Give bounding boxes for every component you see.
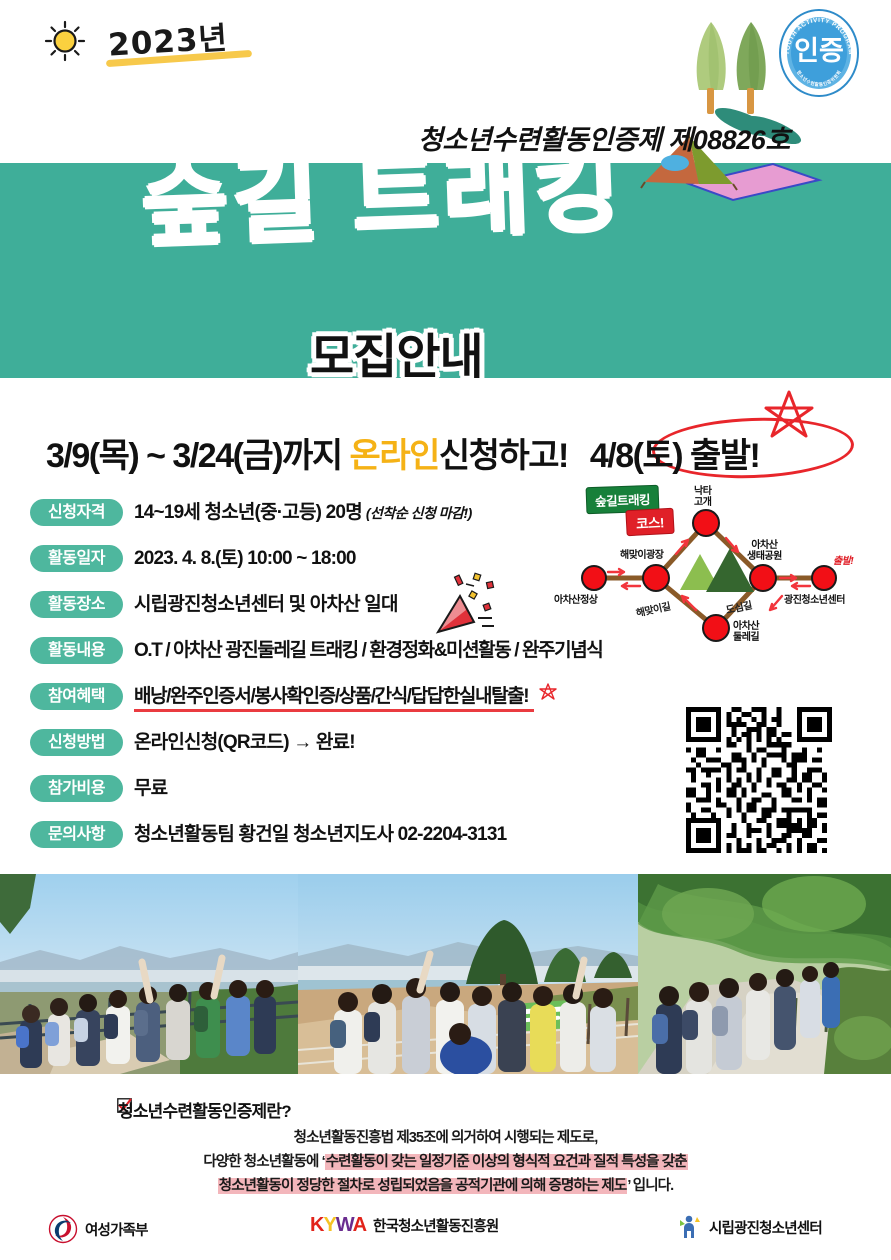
photo-strip xyxy=(0,874,891,1074)
photo-youths-at-viewpoint xyxy=(0,874,298,1074)
year-label: 2023년 xyxy=(107,12,229,64)
gwangjin-center-logo-text: 시립광진청소년센터 xyxy=(709,1217,822,1238)
photo-group-with-banner xyxy=(298,874,638,1074)
info-value-benefits: 배낭/완주인증서/봉사확인증/상품/간식/답답한실내탈출! xyxy=(134,681,528,712)
sponsor-logo-row: 여성가족부 KYWA 한국청소년활동진흥원 시립광진청소년센터 xyxy=(0,1206,891,1254)
footer-line-3-highlight: 청소년활동이 정당한 절차로 성립되었음을 공적기관에 의해 증명하는 제도 xyxy=(218,1178,628,1194)
qualification-text: 14~19세 청소년(중·고등) 20명 xyxy=(134,502,362,523)
footer-line-1: 청소년활동진흥법 제35조에 의거하여 시행되는 제도로, xyxy=(0,1126,891,1150)
benefits-underline-decoration xyxy=(134,709,534,712)
map-node-label-nakta-gogae: 낙타고개 xyxy=(694,486,711,508)
info-value-fee: 무료 xyxy=(134,773,167,804)
map-node-label-achasan-summit: 아차산정상 xyxy=(554,595,598,606)
map-node-label-achasan-eco-park: 아차산생태공원 xyxy=(747,540,782,562)
camping-tent-and-trees-illustration xyxy=(633,4,863,209)
online-keyword: 온라인 xyxy=(350,437,439,475)
info-label-how-to-apply: 신청방법 xyxy=(30,729,123,756)
footer-section-title: 청소년수련활동인증제란? xyxy=(118,1097,291,1122)
map-node-label-achasan-dulle-gil: 아차산둘레길 xyxy=(733,621,759,643)
star-annotation-icon xyxy=(760,388,818,442)
footer-explanation-text: 청소년활동진흥법 제35조에 의거하여 시행되는 제도로, 다양한 청소년활동에… xyxy=(0,1126,891,1198)
photo-hiking-forest-trail xyxy=(638,874,891,1074)
poster-root: 2023년 YOUTH ACTIVITY PROGRAM 청소년수련활동인증위원… xyxy=(0,0,891,1260)
info-value-contact: 청소년활동팀 황건일 청소년지도사 02-2204-3131 xyxy=(134,819,506,850)
footer-line-3: 청소년활동이 정당한 절차로 성립되었음을 공적기관에 의해 증명하는 제도’ … xyxy=(0,1174,891,1198)
map-start-label: 출발! xyxy=(833,556,853,567)
kywa-logo-text: 한국청소년활동진흥원 xyxy=(373,1215,498,1236)
mogef-logo: 여성가족부 xyxy=(48,1214,148,1244)
small-star-icon xyxy=(538,682,558,702)
info-value-location: 시립광진청소년센터 및 아차산 일대 xyxy=(134,589,398,620)
info-label-location: 활동장소 xyxy=(30,591,123,618)
info-label-fee: 참가비용 xyxy=(30,775,123,802)
info-label-program: 활동내용 xyxy=(30,637,123,664)
recruitment-subtitle: 모집안내 xyxy=(310,317,483,387)
info-value-program: O.T / 아차산 광진둘레길 트래킹 / 환경정화&미션활동 / 완주기념식 xyxy=(134,635,602,666)
mogef-logo-text: 여성가족부 xyxy=(85,1219,148,1240)
period-text: 3/9(목) ~ 3/24(금)까지 xyxy=(46,437,350,475)
apply-keyword: 신청하고! xyxy=(439,437,568,475)
map-node-label-haemaji-plaza: 해맞이광장 xyxy=(620,550,664,561)
certification-number: 청소년수련활동인증제 제08826호 xyxy=(418,118,790,157)
info-label-date: 활동일자 xyxy=(30,545,123,572)
footer-line-2-highlight: 수련활동이 갖는 일정기준 이상의 형식적 요건과 질적 특성을 갖춘 xyxy=(325,1154,688,1170)
info-label-qualification: 신청자격 xyxy=(30,499,123,526)
kywa-logo: KYWA 한국청소년활동진흥원 xyxy=(310,1214,498,1237)
application-qr-code[interactable] xyxy=(686,707,832,853)
sun-icon xyxy=(44,20,86,62)
gwangjin-youth-center-logo: 시립광진청소년센터 xyxy=(678,1214,822,1240)
info-value-qualification: 14~19세 청소년(중·고등) 20명(선착순 신청 마감!) xyxy=(134,497,472,529)
kywa-wordmark: KYWA xyxy=(310,1214,366,1237)
info-label-contact: 문의사항 xyxy=(30,821,123,848)
footer-line-3-post: ’ 입니다. xyxy=(627,1178,673,1194)
application-period-line: 3/9(목) ~ 3/24(금)까지 온라인신청하고!4/8(토) 출발! xyxy=(46,428,759,477)
party-popper-icon xyxy=(430,570,502,642)
info-label-benefits: 참여혜택 xyxy=(30,683,123,710)
footer-line-2-pre: 다양한 청소년활동에 ‘ xyxy=(203,1154,324,1170)
qualification-note: (선착순 신청 마감!) xyxy=(366,505,472,521)
info-value-how-to-apply: 온라인신청(QR코드) → 완료! xyxy=(134,727,355,758)
map-node-label-gwangjin-center: 광진청소년센터 xyxy=(784,595,845,606)
course-map: 숲길트래킹 코스! xyxy=(548,482,883,642)
gwangjin-center-mark-icon xyxy=(678,1214,702,1240)
footer-line-2: 다양한 청소년활동에 ‘수련활동이 갖는 일정기준 이상의 형식적 요건과 질적… xyxy=(0,1150,891,1174)
info-value-date: 2023. 4. 8.(토) 10:00 ~ 18:00 xyxy=(134,543,356,574)
departure-date: 4/8(토) 출발! xyxy=(590,437,760,475)
mogef-mark-icon xyxy=(48,1214,78,1244)
